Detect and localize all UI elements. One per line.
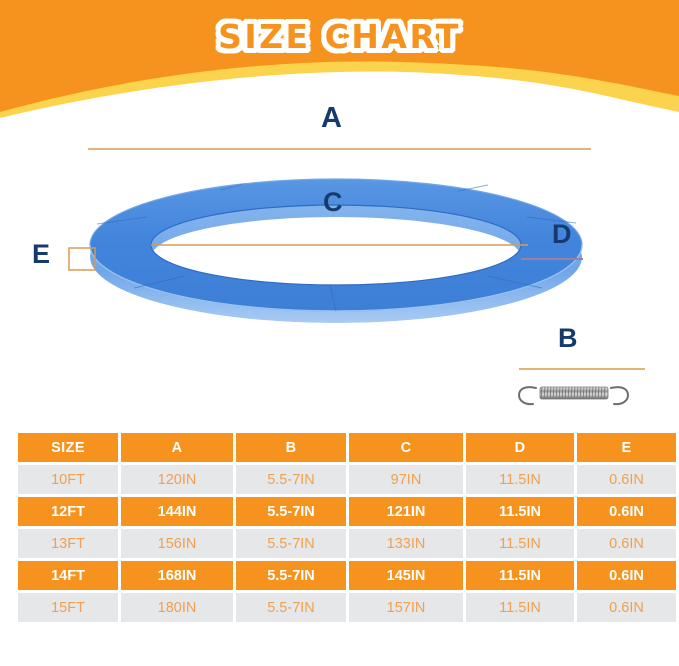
cell-e: 0.6IN	[577, 561, 676, 590]
cell-size: 13FT	[18, 529, 118, 558]
dimension-label-d: D	[552, 221, 572, 248]
cell-size: 10FT	[18, 465, 118, 494]
dimension-label-b: B	[558, 325, 578, 352]
cell-b: 5.5-7IN	[236, 561, 346, 590]
cell-e: 0.6IN	[577, 497, 676, 526]
column-header-c: C	[349, 433, 463, 462]
cell-b: 5.5-7IN	[236, 593, 346, 622]
cell-d: 11.5IN	[466, 529, 574, 558]
dimension-label-e: E	[32, 241, 50, 268]
table-header-row: SIZE A B C D E	[18, 433, 676, 462]
cell-c: 121IN	[349, 497, 463, 526]
column-header-a: A	[121, 433, 233, 462]
column-header-e: E	[577, 433, 676, 462]
table-row: 13FT 156IN 5.5-7IN 133IN 11.5IN 0.6IN	[18, 529, 676, 558]
column-header-b: B	[236, 433, 346, 462]
cell-c: 157IN	[349, 593, 463, 622]
size-chart-table: SIZE A B C D E 10FT 120IN 5.5-7IN 97IN 1…	[15, 430, 679, 625]
cell-b: 5.5-7IN	[236, 465, 346, 494]
column-header-d: D	[466, 433, 574, 462]
cell-b: 5.5-7IN	[236, 529, 346, 558]
column-header-size: SIZE	[18, 433, 118, 462]
table-row: 10FT 120IN 5.5-7IN 97IN 11.5IN 0.6IN	[18, 465, 676, 494]
cell-c: 133IN	[349, 529, 463, 558]
cell-e: 0.6IN	[577, 465, 676, 494]
trampoline-pad-diagram: A C D E B	[0, 96, 679, 426]
spring-illustration	[519, 387, 628, 404]
table-row: 12FT 144IN 5.5-7IN 121IN 11.5IN 0.6IN	[18, 497, 676, 526]
cell-size: 12FT	[18, 497, 118, 526]
cell-a: 180IN	[121, 593, 233, 622]
table-row: 14FT 168IN 5.5-7IN 145IN 11.5IN 0.6IN	[18, 561, 676, 590]
cell-d: 11.5IN	[466, 593, 574, 622]
diagram-graphic	[0, 96, 679, 426]
table-row: 15FT 180IN 5.5-7IN 157IN 11.5IN 0.6IN	[18, 593, 676, 622]
cell-d: 11.5IN	[466, 561, 574, 590]
cell-a: 156IN	[121, 529, 233, 558]
cell-c: 97IN	[349, 465, 463, 494]
cell-size: 14FT	[18, 561, 118, 590]
cell-d: 11.5IN	[466, 497, 574, 526]
cell-e: 0.6IN	[577, 593, 676, 622]
dimension-label-c: C	[323, 189, 343, 216]
cell-d: 11.5IN	[466, 465, 574, 494]
cell-a: 144IN	[121, 497, 233, 526]
cell-c: 145IN	[349, 561, 463, 590]
cell-a: 168IN	[121, 561, 233, 590]
cell-e: 0.6IN	[577, 529, 676, 558]
cell-a: 120IN	[121, 465, 233, 494]
dimension-label-a: A	[321, 104, 342, 133]
cell-size: 15FT	[18, 593, 118, 622]
cell-b: 5.5-7IN	[236, 497, 346, 526]
size-chart-page: SIZE CHART	[0, 0, 679, 666]
